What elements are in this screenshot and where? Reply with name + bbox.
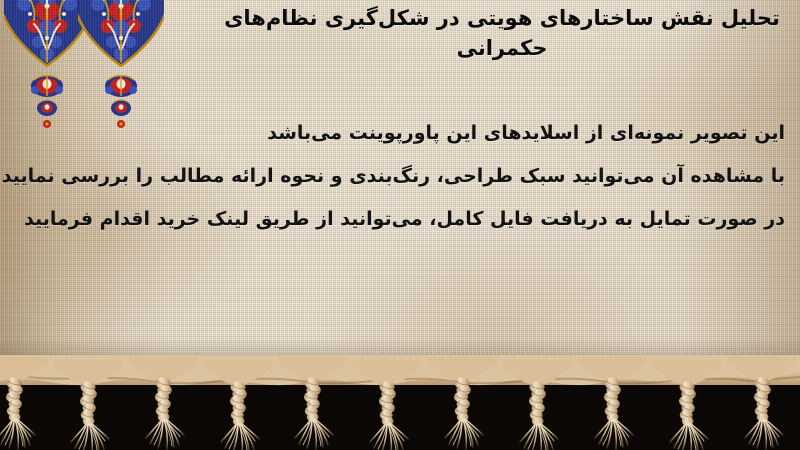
- presentation-slide: تحلیل نقش ساختارهای هویتی در شکل‌گیری نظ…: [0, 0, 800, 450]
- carpet-fringe-zone: [0, 355, 800, 450]
- carpet-fringe-tassels: [0, 355, 800, 450]
- medallion-pendant-upper: [105, 75, 137, 97]
- body-line-3: در صورت تمایل به دریافت فایل کامل، می‌تو…: [10, 198, 785, 241]
- medallion-pendant-upper: [31, 75, 63, 97]
- body-line-2: با مشاهده آن می‌توانید سبک طراحی، رنگ‌بن…: [10, 155, 785, 198]
- body-line-1: این تصویر نمونه‌ای از اسلایدهای این پاور…: [10, 112, 785, 155]
- slide-title: تحلیل نقش ساختارهای هویتی در شکل‌گیری نظ…: [222, 4, 782, 64]
- slide-body: این تصویر نمونه‌ای از اسلایدهای این پاور…: [10, 112, 785, 240]
